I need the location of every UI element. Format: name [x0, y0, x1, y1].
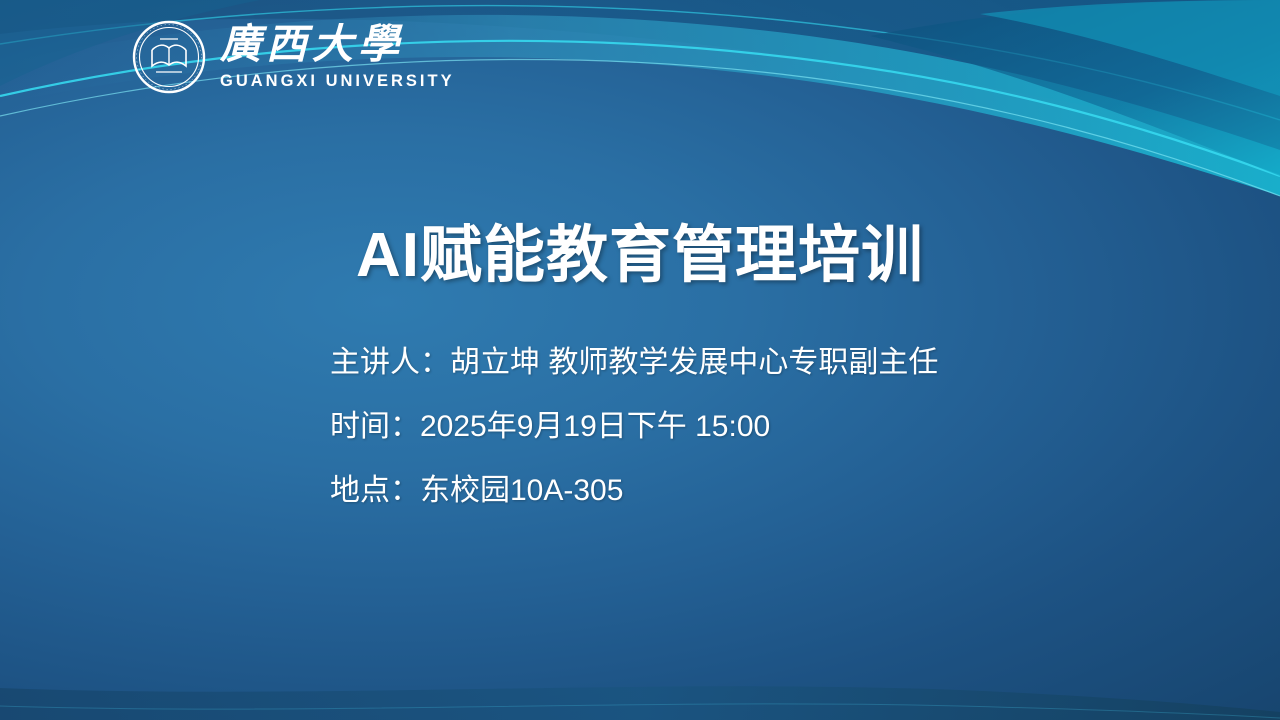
- detail-location: 地点：东校园10A-305: [330, 476, 938, 506]
- logo-wordmark: 廣西大學 GUANGXI UNIVERSITY: [220, 24, 455, 90]
- detail-time: 时间：2025年9月19日下午 15:00: [330, 412, 938, 442]
- logo-name-en: GUANGXI UNIVERSITY: [220, 73, 455, 90]
- slide-details: 主讲人：胡立坤 教师教学发展中心专职副主任 时间：2025年9月19日下午 15…: [330, 348, 938, 506]
- slide-title: AI赋能教育管理培训: [0, 204, 1280, 294]
- presentation-slide: 廣西大學 GUANGXI UNIVERSITY AI赋能教育管理培训 主讲人：胡…: [0, 0, 1280, 720]
- guangxi-university-seal-icon: [132, 20, 206, 94]
- logo-name-cn: 廣西大學: [220, 24, 455, 65]
- university-logo: 廣西大學 GUANGXI UNIVERSITY: [132, 20, 455, 94]
- detail-speaker: 主讲人：胡立坤 教师教学发展中心专职副主任: [330, 348, 938, 378]
